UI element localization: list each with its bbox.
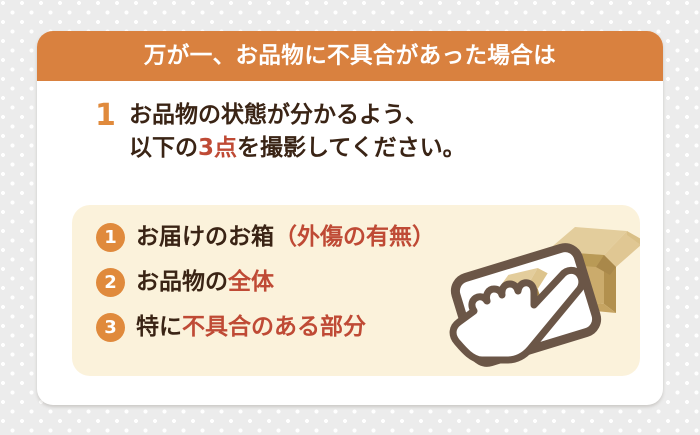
list-item-text-3: 特に不具合のある部分 [136, 316, 366, 339]
step-row: 1 お品物の状態が分かるよう、 以下の3点を撮影してください。 [37, 99, 663, 164]
badge-number-3: 3 [96, 313, 125, 342]
step-section: 1 お品物の状態が分かるよう、 以下の3点を撮影してください。 [37, 81, 663, 164]
step-line-2: 以下の3点を撮影してください。 [129, 132, 466, 165]
step-text: お品物の状態が分かるよう、 以下の3点を撮影してください。 [129, 99, 466, 164]
list-item-text-1: お届けのお箱（外傷の有無） [136, 226, 435, 249]
checklist-items: 1 お届けのお箱（外傷の有無） 2 お品物の全体 3 特に不具合のある部分 [96, 219, 435, 346]
badge-number-2: 2 [96, 268, 125, 297]
list-item-text-2: お品物の全体 [136, 271, 274, 294]
list-item-1-pre: お届けのお箱 [136, 224, 274, 250]
step-number: 1 [95, 101, 129, 131]
step-line-2-accent: 3点 [198, 135, 237, 161]
card-header: 万が一、お品物に不具合があった場合は [37, 31, 663, 81]
hand-tapping-tablet-icon [444, 209, 640, 376]
list-item: 2 お品物の全体 [96, 264, 435, 301]
list-item-2-accent: 全体 [228, 269, 274, 295]
list-item-3-pre: 特に [136, 314, 182, 340]
step-line-1: お品物の状態が分かるよう、 [129, 99, 466, 132]
checklist-panel: 1 お届けのお箱（外傷の有無） 2 お品物の全体 3 特に不具合のある部分 [72, 205, 640, 376]
list-item-2-pre: お品物の [136, 269, 228, 295]
badge-number-1: 1 [96, 223, 125, 252]
list-item-3-accent: 不具合のある部分 [182, 314, 366, 340]
step-line-2-pre: 以下の [129, 135, 198, 161]
step-line-2-post: を撮影してください。 [237, 135, 466, 161]
list-item: 3 特に不具合のある部分 [96, 309, 435, 346]
info-card: 万が一、お品物に不具合があった場合は 1 お品物の状態が分かるよう、 以下の3点… [37, 31, 663, 405]
header-title: 万が一、お品物に不具合があった場合は [144, 45, 556, 68]
list-item-1-accent: （外傷の有無） [274, 224, 435, 250]
list-item: 1 お届けのお箱（外傷の有無） [96, 219, 435, 256]
